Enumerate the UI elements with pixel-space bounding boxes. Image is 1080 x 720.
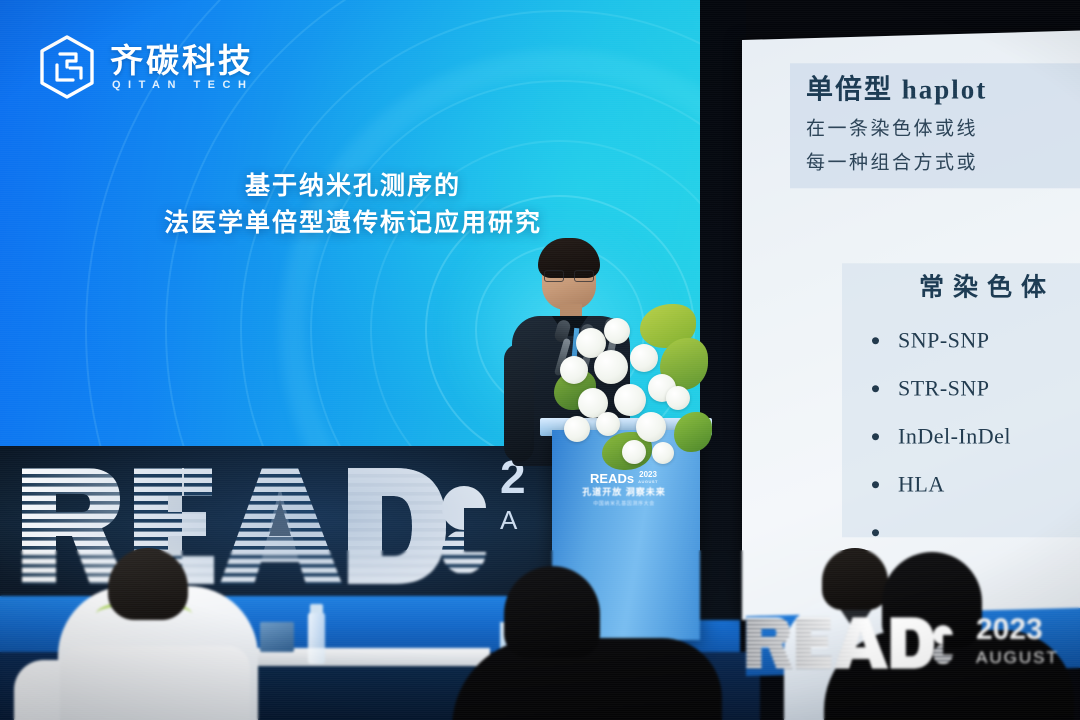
qitan-hexagon-logo-icon xyxy=(36,34,98,100)
bouquet-bloom-12 xyxy=(666,386,690,410)
bouquet-bloom-3 xyxy=(560,356,588,384)
backdrop-reads-wordmark xyxy=(16,456,496,596)
reads-watermark: 2023 AUGUST xyxy=(740,612,1059,674)
qitan-chinese-name: 齐碳科技 xyxy=(110,44,254,77)
projection-heading-box: 单倍型 haplot 在一条染色体或线 每一种组合方式或 xyxy=(790,63,1080,188)
slide-title-line-1: 基于纳米孔测序的 xyxy=(0,168,706,205)
water-bottle-cap xyxy=(310,604,323,613)
podium-subtitle: 中国纳米孔基因测序大会 xyxy=(593,500,655,507)
bouquet-bloom-4 xyxy=(594,350,628,384)
watermark-date-block: 2023 AUGUST xyxy=(976,615,1059,671)
projection-bullet-4: HLA xyxy=(870,473,1080,495)
projection-bullet-list: SNP-SNP STR-SNP InDel-InDel HLA xyxy=(852,329,1080,495)
slide-title: 基于纳米孔测序的 法医学单倍型遗传标记应用研究 xyxy=(0,168,706,242)
bouquet-bloom-2 xyxy=(604,318,630,344)
podium-year: 2023 xyxy=(639,471,657,479)
projection-heading: 单倍型 haplot xyxy=(806,73,1080,107)
projection-bullet-box: 常染色体 SNP-SNP STR-SNP InDel-InDel HLA xyxy=(842,263,1080,537)
speaker-glasses-icon xyxy=(544,270,594,282)
podium-wordmark: READs xyxy=(590,472,634,485)
watermark-month: AUGUST xyxy=(976,645,1059,671)
projection-bullet-3: InDel-InDel xyxy=(870,425,1080,447)
bouquet-bloom-14 xyxy=(652,442,674,464)
podium-month: AUGUST xyxy=(638,479,658,485)
audience-silhouette-center xyxy=(452,566,732,720)
projection-bullet-2: STR-SNP xyxy=(870,377,1080,399)
projection-body-line-2: 每一种组合方式或 xyxy=(806,152,1080,177)
audience-center-head xyxy=(504,566,600,658)
conference-photo-scene: 齐碳科技 QITAN TECH 基于纳米孔测序的 法医学单倍型遗传标记应用研究 xyxy=(0,0,1080,720)
podium-slogan: 孔道开放 洞察未来 xyxy=(582,487,666,498)
bouquet-bloom-9 xyxy=(564,416,590,442)
bouquet-leaf-5 xyxy=(674,412,712,452)
bouquet-bloom-7 xyxy=(614,384,646,416)
audience-left-head xyxy=(108,548,188,620)
watermark-year: 2023 xyxy=(976,615,1059,645)
projection-bullet-1: SNP-SNP xyxy=(870,329,1080,351)
projection-section-title: 常染色体 xyxy=(852,273,1080,303)
bouquet-bloom-13 xyxy=(622,440,646,464)
watermark-reads-wordmark xyxy=(740,612,960,674)
projection-body-line-1: 在一条染色体或线 xyxy=(806,117,1080,142)
bouquet-bloom-10 xyxy=(596,412,620,436)
qitan-english-name: QITAN TECH xyxy=(110,80,254,91)
backdrop-year-block: 2 A xyxy=(500,454,527,542)
water-bottle xyxy=(308,612,325,664)
flower-bouquet xyxy=(548,300,708,470)
qitan-tech-logo: 齐碳科技 QITAN TECH xyxy=(36,34,254,100)
speaker-arm xyxy=(504,344,534,462)
bouquet-bloom-5 xyxy=(630,344,658,372)
backdrop-month: A xyxy=(500,500,527,542)
audience-left-chair xyxy=(60,646,250,720)
bouquet-bloom-11 xyxy=(636,412,666,442)
qitan-wordmark: 齐碳科技 QITAN TECH xyxy=(110,44,254,91)
laptop xyxy=(260,622,294,652)
projection-screen: 单倍型 haplot 在一条染色体或线 每一种组合方式或 常染色体 SNP-SN… xyxy=(742,31,1080,620)
